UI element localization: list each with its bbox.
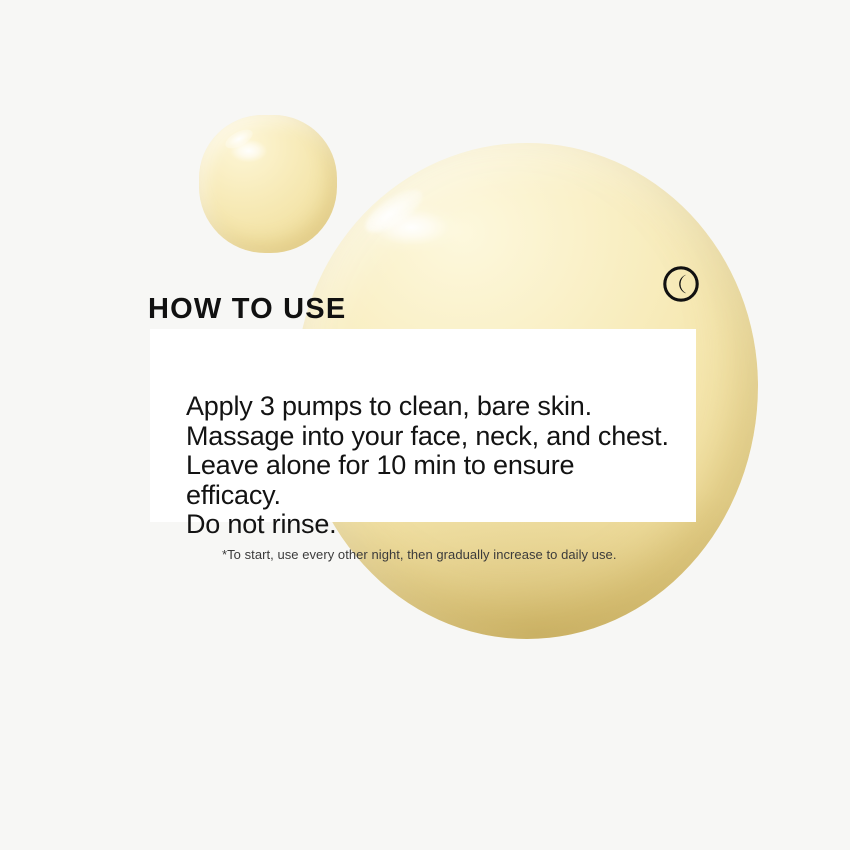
instruction-card: Apply 3 pumps to clean, bare skin. Massa…	[150, 329, 696, 522]
how-to-use-section: HOW TO USE Apply 3 pumps to clean, bare …	[0, 0, 850, 850]
instruction-text: Apply 3 pumps to clean, bare skin. Massa…	[186, 392, 676, 540]
night-use-badge	[662, 265, 700, 303]
usage-footnote: *To start, use every other night, then g…	[222, 546, 642, 564]
crescent-moon-icon	[662, 265, 700, 303]
serum-droplet-small	[199, 115, 337, 253]
page-title: HOW TO USE	[148, 292, 346, 326]
